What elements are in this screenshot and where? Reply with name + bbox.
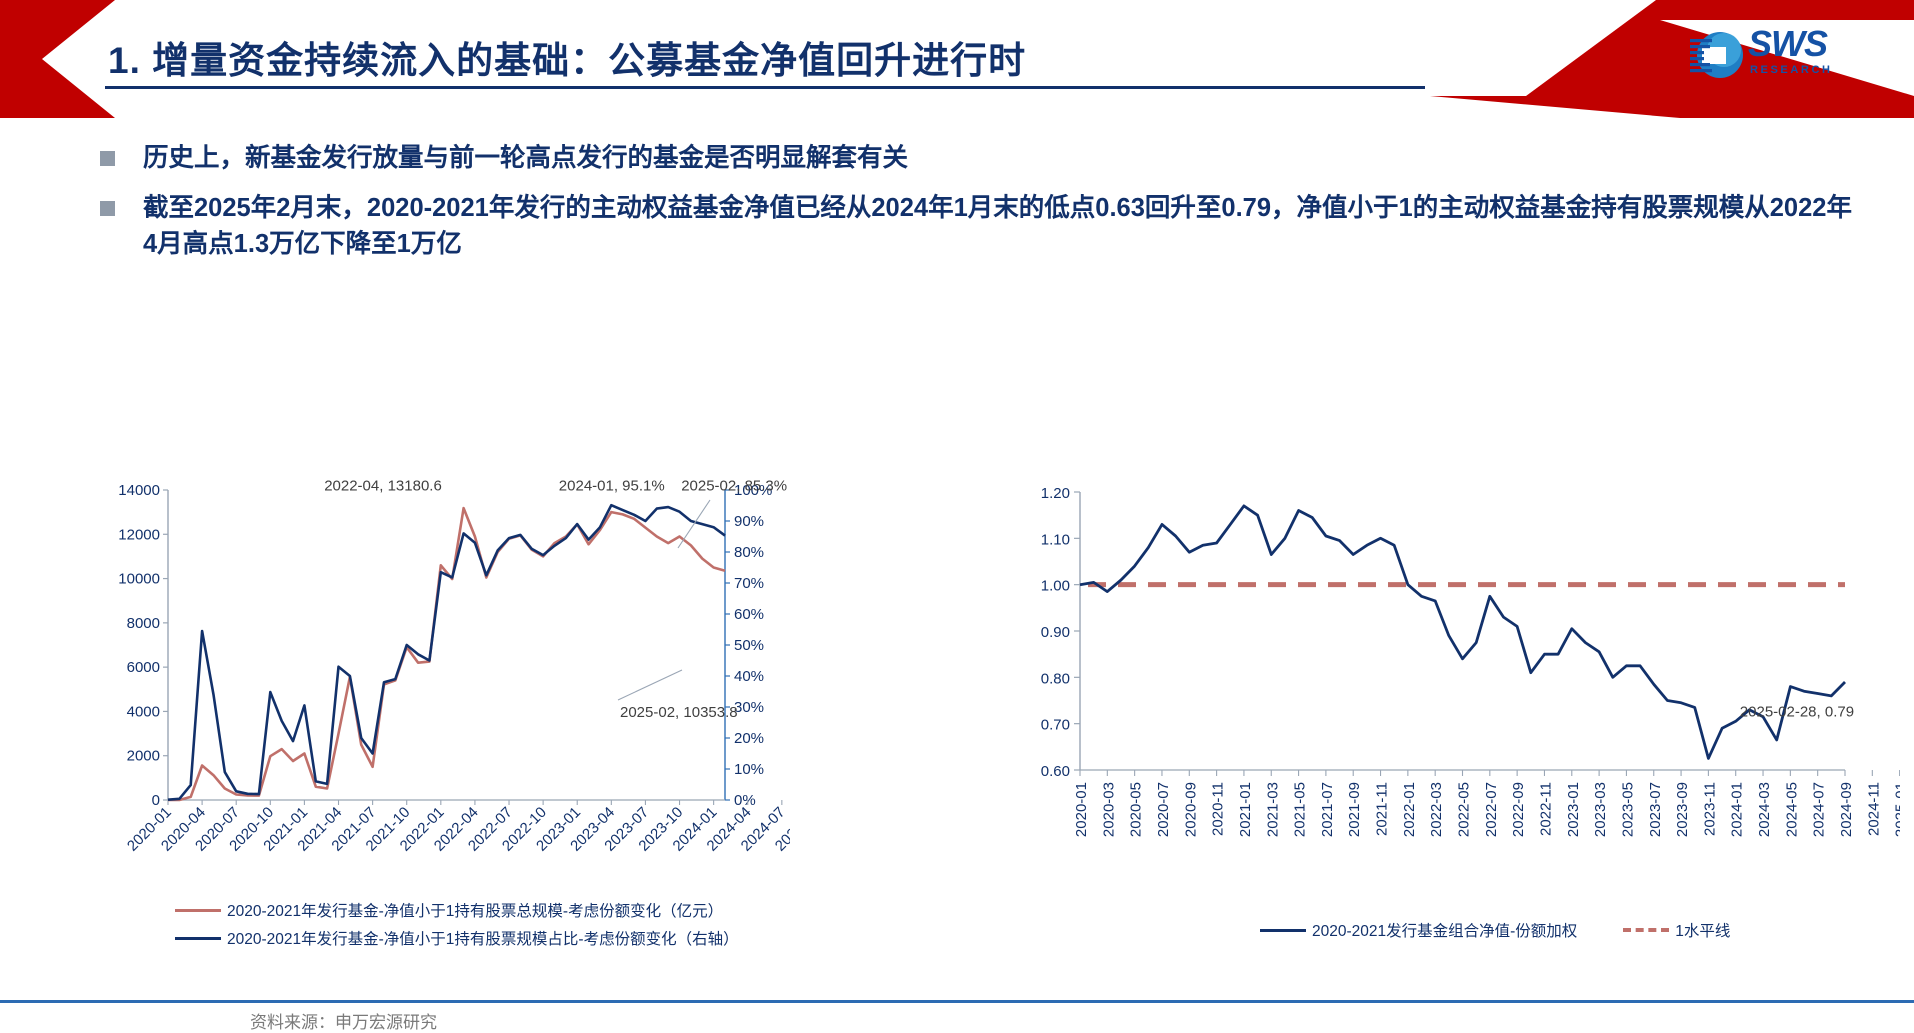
bullet-text: 历史上，新基金发行放量与前一轮高点发行的基金是否明显解套有关 xyxy=(143,140,908,176)
chart-right-legend: 2020-2021发行基金组合净值-份额加权 1水平线 xyxy=(1260,913,1730,941)
y2-axis-tick: 70% xyxy=(734,575,764,592)
bullet-square-icon xyxy=(100,201,115,216)
swsresearch-logo: SWS RESEARCH xyxy=(1688,24,1896,86)
y-axis-tick: 2000 xyxy=(127,748,160,765)
x-axis-tick: 2024-09 xyxy=(1838,782,1855,837)
logo-subtitle: RESEARCH xyxy=(1750,64,1833,76)
x-axis-tick: 2021-11 xyxy=(1374,782,1391,836)
legend-label: 2020-2021年发行基金-净值小于1持有股票总规模-考虑份额变化（亿元） xyxy=(227,899,723,921)
x-axis-tick: 2024-03 xyxy=(1756,782,1773,837)
bullet-item: 截至2025年2月末，2020-2021年发行的主动权益基金净值已经从2024年… xyxy=(100,190,1860,262)
y-axis-tick: 12000 xyxy=(118,526,160,543)
y2-axis-tick: 60% xyxy=(734,606,764,623)
y-axis-tick: 6000 xyxy=(127,659,160,676)
y-axis-tick: 1.10 xyxy=(1041,531,1070,548)
bullet-list: 历史上，新基金发行放量与前一轮高点发行的基金是否明显解套有关 截至2025年2月… xyxy=(100,140,1860,277)
chart-annotation: 2025-02, 85.3% xyxy=(681,477,787,494)
x-axis-tick: 2024-07 xyxy=(1811,782,1828,837)
x-axis-tick: 2021-07 xyxy=(1319,782,1336,837)
legend-item: 2020-2021发行基金组合净值-份额加权 xyxy=(1260,919,1577,941)
x-axis-tick: 2021-09 xyxy=(1346,782,1363,837)
x-axis-tick: 2023-03 xyxy=(1592,782,1609,837)
x-axis-tick: 2020-03 xyxy=(1100,782,1117,837)
x-axis-tick: 2022-03 xyxy=(1428,782,1445,837)
y2-axis-tick: 40% xyxy=(734,668,764,685)
x-axis-tick: 2025-01 xyxy=(1893,782,1900,837)
y-axis-tick: 8000 xyxy=(127,615,160,632)
legend-swatch-dashed-red xyxy=(1623,928,1669,932)
x-axis-tick: 2022-01 xyxy=(1401,782,1418,837)
logo-wordmark: SWS xyxy=(1748,26,1827,62)
legend-swatch-navy xyxy=(175,937,221,940)
chart-fund-stock-scale: 020004000600080001000012000140000%10%20%… xyxy=(110,470,790,970)
x-axis-tick: 2023-07 xyxy=(1647,782,1664,837)
title-underline xyxy=(105,86,1425,89)
chart-left-legend: 2020-2021年发行基金-净值小于1持有股票总规模-考虑份额变化（亿元） 2… xyxy=(175,893,739,949)
y2-axis-tick: 80% xyxy=(734,544,764,561)
legend-label: 1水平线 xyxy=(1675,919,1730,941)
y-axis-tick: 1.00 xyxy=(1041,578,1070,595)
x-axis-tick: 2023-05 xyxy=(1619,782,1636,837)
x-axis-tick: 2023-11 xyxy=(1701,782,1718,836)
chart-left-svg: 020004000600080001000012000140000%10%20%… xyxy=(110,470,790,890)
bullet-text: 截至2025年2月末，2020-2021年发行的主动权益基金净值已经从2024年… xyxy=(143,190,1860,262)
x-axis-tick: 2020-09 xyxy=(1182,782,1199,837)
sws-globe-icon xyxy=(1688,28,1744,82)
y-axis-tick: 10000 xyxy=(118,571,160,588)
x-axis-tick: 2024-01 xyxy=(1729,782,1746,837)
legend-item: 2020-2021年发行基金-净值小于1持有股票总规模-考虑份额变化（亿元） xyxy=(175,899,739,921)
y-axis-tick: 4000 xyxy=(127,703,160,720)
x-axis-tick: 2022-11 xyxy=(1537,782,1554,836)
x-axis-tick: 2022-05 xyxy=(1456,782,1473,837)
x-axis-tick: 2022-09 xyxy=(1510,782,1527,837)
x-axis-tick: 2020-07 xyxy=(1155,782,1172,837)
x-axis-tick: 2024-11 xyxy=(1865,782,1882,836)
y-axis-tick: 0.60 xyxy=(1041,763,1070,780)
x-axis-tick: 2024-05 xyxy=(1783,782,1800,837)
legend-swatch-red xyxy=(175,909,221,912)
chart-annotation: 2024-01, 95.1% xyxy=(559,477,665,494)
bullet-square-icon xyxy=(100,151,115,166)
footer-source: 资料来源：申万宏源研究 xyxy=(250,1008,437,1033)
y2-axis-tick: 20% xyxy=(734,730,764,747)
y-axis-tick: 0.80 xyxy=(1041,670,1070,687)
x-axis-tick: 2021-03 xyxy=(1264,782,1281,837)
footer-divider xyxy=(0,1000,1914,1003)
y2-axis-tick: 30% xyxy=(734,699,764,716)
chart-right-svg: 0.600.700.800.901.001.101.202020-012020-… xyxy=(1010,470,1900,910)
legend-label: 2020-2021年发行基金-净值小于1持有股票规模占比-考虑份额变化（右轴） xyxy=(227,927,739,949)
y2-axis-tick: 10% xyxy=(734,761,764,778)
bullet-item: 历史上，新基金发行放量与前一轮高点发行的基金是否明显解套有关 xyxy=(100,140,1860,176)
chart-annotation: 2025-02, 10353.8 xyxy=(620,704,738,721)
legend-swatch-navy xyxy=(1260,929,1306,932)
y-axis-tick: 0.70 xyxy=(1041,717,1070,734)
slide-header: 1. 增量资金持续流入的基础：公募基金净值回升进行时 SWS RESEARCH xyxy=(0,0,1914,118)
chart-fund-nav: 0.600.700.800.901.001.101.202020-012020-… xyxy=(1010,470,1900,970)
y-axis-tick: 14000 xyxy=(118,482,160,499)
legend-item: 2020-2021年发行基金-净值小于1持有股票规模占比-考虑份额变化（右轴） xyxy=(175,927,739,949)
y-axis-tick: 0.90 xyxy=(1041,624,1070,641)
page-title: 1. 增量资金持续流入的基础：公募基金净值回升进行时 xyxy=(108,30,1026,84)
y-axis-tick: 1.20 xyxy=(1041,485,1070,502)
x-axis-tick: 2021-05 xyxy=(1292,782,1309,837)
chart-annotation: 2025-02-28, 0.79 xyxy=(1740,703,1854,720)
chart-annotation: 2022-04, 13180.6 xyxy=(324,477,442,494)
x-axis-tick: 2020-01 xyxy=(1073,782,1090,837)
x-axis-tick: 2023-01 xyxy=(1565,782,1582,837)
x-axis-tick: 2020-05 xyxy=(1128,782,1145,837)
y2-axis-tick: 90% xyxy=(734,513,764,530)
y-axis-tick: 0 xyxy=(152,792,160,809)
x-axis-tick: 2021-01 xyxy=(1237,782,1254,837)
x-axis-tick: 2020-11 xyxy=(1210,782,1227,836)
legend-label: 2020-2021发行基金组合净值-份额加权 xyxy=(1312,919,1577,941)
x-axis-tick: 2022-07 xyxy=(1483,782,1500,837)
x-axis-tick: 2023-09 xyxy=(1674,782,1691,837)
y2-axis-tick: 50% xyxy=(734,637,764,654)
legend-item: 1水平线 xyxy=(1623,919,1730,941)
